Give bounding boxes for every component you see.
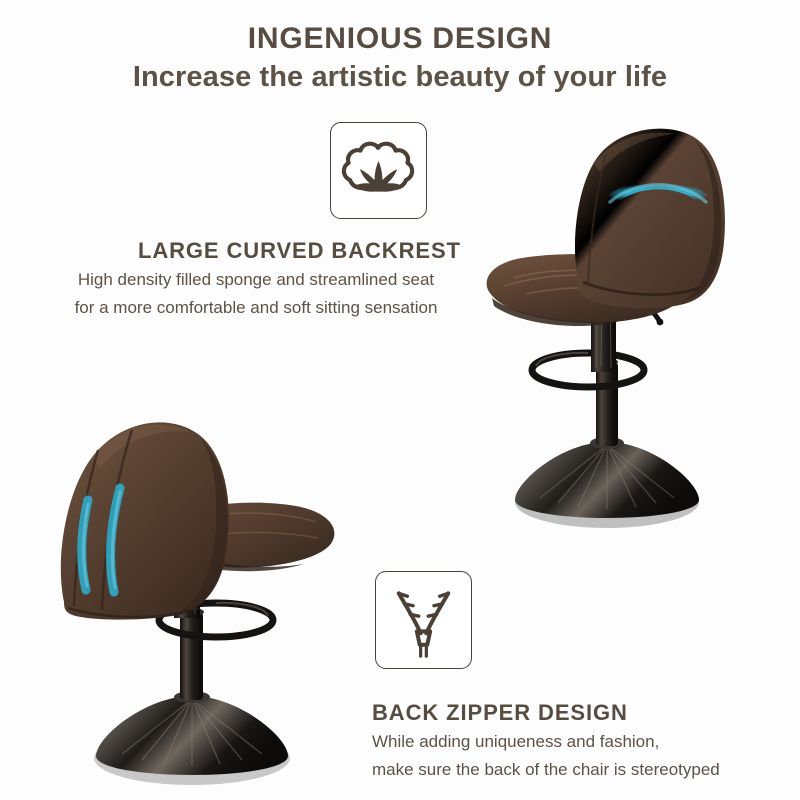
zipper-icon <box>376 572 471 668</box>
feature-title-zipper: BACK ZIPPER DESIGN <box>372 700 628 726</box>
product-image-bar-stool-front <box>470 112 760 532</box>
feature-body-zipper: While adding uniqueness and fashion, mak… <box>372 728 720 783</box>
cotton-boll-icon <box>331 123 426 218</box>
feature-body-line: make sure the back of the chair is stere… <box>372 756 720 784</box>
zipper-icon-frame <box>375 571 472 669</box>
feature-title-backrest: LARGE CURVED BACKREST <box>138 238 461 264</box>
feature-body-line: While adding uniqueness and fashion, <box>372 728 720 756</box>
feature-body-line: for a more comfortable and soft sitting … <box>66 294 446 322</box>
infographic-page: INGENIOUS DESIGN Increase the artistic b… <box>0 0 800 800</box>
feature-body-line: High density filled sponge and streamlin… <box>66 266 446 294</box>
page-headline: INGENIOUS DESIGN <box>0 22 800 55</box>
page-subheadline: Increase the artistic beauty of your lif… <box>0 60 800 95</box>
feature-body-backrest: High density filled sponge and streamlin… <box>66 266 446 321</box>
product-image-bar-stool-back <box>40 358 350 788</box>
cotton-icon-frame <box>330 122 427 219</box>
